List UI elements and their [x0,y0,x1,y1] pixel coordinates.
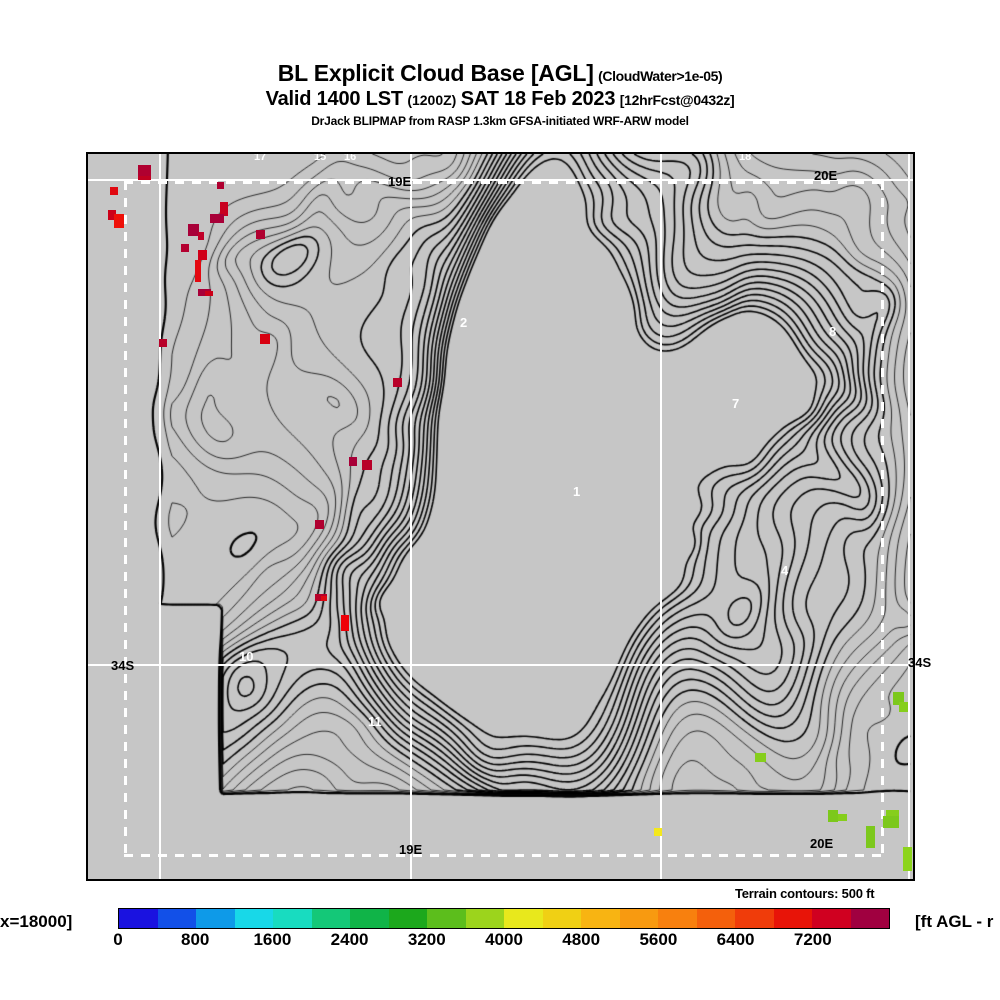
map-label-8: 8 [829,324,836,339]
map-label-19e-top: 19E [388,174,411,189]
valid-time-zulu: (1200Z) [407,92,456,108]
colorbar-swatch-12 [581,909,620,928]
valid-date: SAT 18 Feb 2023 [461,88,615,110]
domain-boundary-left [124,181,127,857]
colorbar-swatch-0 [119,909,158,928]
forecast-map[interactable]: 17 15 16 18 19E 20E 2 7 8 1 4 10 11 19E … [86,152,915,881]
colorbar-tick-4800: 4800 [562,930,600,950]
colorbar-swatch-4 [273,909,312,928]
cloud-base-cell [866,826,875,848]
cloud-base-cell [138,165,151,176]
map-contour-canvas [88,154,913,879]
map-label-10: 10 [239,649,253,664]
colorbar-tick-labels: 080016002400320040004800560064007200 [118,930,890,952]
colorbar-tick-800: 800 [181,930,209,950]
colorbar-tick-7200: 7200 [794,930,832,950]
colorbar-tick-6400: 6400 [717,930,755,950]
colorbar-swatch-2 [196,909,235,928]
cloud-base-cell [393,378,402,387]
title-block: BL Explicit Cloud Base [AGL] (CloudWater… [0,62,1000,128]
cloud-base-cell [217,182,224,189]
page-title: BL Explicit Cloud Base [AGL] [278,60,594,86]
map-label-15: 15 [314,152,326,163]
cloud-base-cell [899,702,908,712]
gridline-lon-20e [908,154,910,879]
colorbar-swatch-3 [235,909,274,928]
domain-boundary-top [124,181,884,184]
map-label-4: 4 [781,563,788,578]
gridline-lon-19e [660,154,662,879]
cloud-base-cell [838,814,847,821]
cloud-base-cell [210,214,224,223]
map-label-20e-bottom: 20E [810,836,833,851]
colorbar-tick-5600: 5600 [639,930,677,950]
map-label-20e-top: 20E [814,168,837,183]
cloud-base-cell [198,250,207,260]
domain-boundary-bottom [124,854,884,857]
cloud-base-cell [260,334,270,344]
map-label-19e-bottom: 19E [399,842,422,857]
gridline-lon-17e [159,154,161,879]
map-label-1: 1 [573,484,580,499]
colorbar-swatch-18 [812,909,851,928]
colorbar-swatch-8 [427,909,466,928]
map-label-11: 11 [368,714,382,729]
cloud-base-cell [315,520,324,529]
title-line-valid: Valid 1400 LST (1200Z) SAT 18 Feb 2023 [… [0,89,1000,109]
valid-time: Valid 1400 LST [266,88,403,110]
title-condition: (CloudWater>1e-05) [598,68,722,84]
cloud-base-cell [321,596,327,601]
colorbar-swatch-15 [697,909,736,928]
colorbar-tick-2400: 2400 [331,930,369,950]
colorbar-tick-3200: 3200 [408,930,446,950]
gridline-lon-18e [410,154,412,879]
colorbar-tick-1600: 1600 [253,930,291,950]
cloud-base-cell [198,232,204,240]
map-label-16: 16 [344,152,356,163]
colorbar-tick-4000: 4000 [485,930,523,950]
cloud-base-cell [181,244,189,252]
map-label-7: 7 [732,396,739,411]
colorbar-swatch-6 [350,909,389,928]
colorbar-tick-0: 0 [113,930,122,950]
colorbar-swatch-13 [620,909,659,928]
colorbar-swatch-5 [312,909,351,928]
lat-label-left-34s: 34S [111,658,134,673]
cloud-base-cell [110,187,118,195]
colorbar[interactable] [118,908,890,929]
lat-label-right-34s: 34S [908,655,931,670]
cloud-base-cell [256,230,265,239]
colorbar-swatch-9 [466,909,505,928]
colorbar-swatch-7 [389,909,428,928]
cloud-base-cell [828,810,838,822]
colorbar-swatch-17 [774,909,813,928]
cloud-base-cell [903,847,912,871]
cloud-base-cell [755,753,766,762]
colorbar-swatch-19 [851,909,890,928]
title-line-primary: BL Explicit Cloud Base [AGL] (CloudWater… [0,62,1000,85]
gridline-lat-34s [88,664,913,666]
terrain-contour-note: Terrain contours: 500 ft [735,886,874,901]
colorbar-swatch-11 [543,909,582,928]
colorbar-swatch-1 [158,909,197,928]
colorbar-swatch-14 [658,909,697,928]
cloud-base-cell [195,260,201,282]
cloud-base-cell [341,615,349,631]
map-label-2: 2 [460,315,467,330]
cloud-base-cell [349,457,357,466]
colorbar-swatch-16 [735,909,774,928]
cloud-base-cell [205,291,213,296]
colorbar-max-note: x=18000] [0,912,72,932]
cloud-base-cell [114,214,124,228]
map-label-18: 18 [739,152,751,163]
map-label-17: 17 [254,152,266,163]
model-source: DrJack BLIPMAP from RASP 1.3km GFSA-init… [0,114,1000,128]
colorbar-units-label: [ft AGL - r [915,912,993,932]
cloud-base-cell [654,828,662,836]
colorbar-swatch-10 [504,909,543,928]
cloud-base-cell [883,816,899,828]
domain-boundary-right [881,181,884,857]
cloud-base-cell [159,339,167,347]
cloud-base-cell [362,460,372,470]
cloud-base-cell [138,176,151,180]
forecast-run: [12hrFcst@0432z] [620,92,735,108]
